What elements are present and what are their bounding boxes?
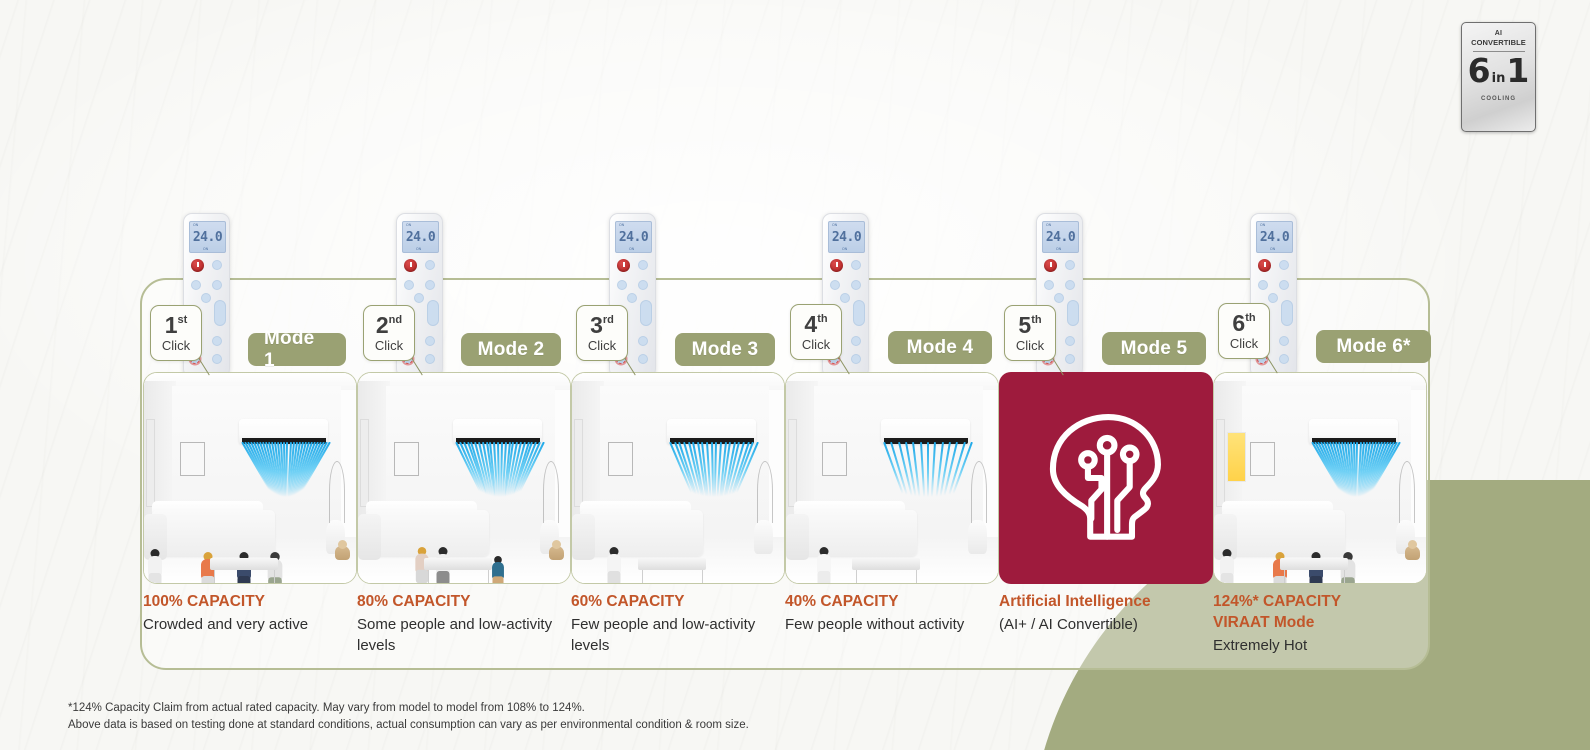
click-badge-6: 6thClick — [1218, 303, 1270, 359]
lcd-bottom-indicator: ON — [416, 247, 421, 251]
sofa — [152, 510, 275, 556]
sofa-armrest — [572, 514, 595, 560]
mode-caption-5: Artificial Intelligence(AI+ / AI Convert… — [999, 592, 1213, 672]
mode-caption-2: 80% CAPACITYSome people and low-activity… — [357, 592, 571, 672]
remote-button-3[interactable] — [425, 280, 435, 290]
capacity-title: 100% CAPACITY — [143, 592, 343, 613]
click-number-row: 6th — [1232, 312, 1255, 335]
capacity-title: 40% CAPACITY — [785, 592, 985, 613]
click-number-row: 5th — [1018, 314, 1041, 337]
click-word-label: Click — [162, 338, 190, 353]
remote-button-2[interactable] — [617, 280, 627, 290]
dog-head — [552, 540, 561, 549]
remote-button-6[interactable] — [427, 300, 439, 326]
dog — [1405, 540, 1420, 560]
sofa — [794, 510, 917, 556]
mode-card-1[interactable] — [143, 372, 357, 584]
remote-button-10[interactable] — [638, 354, 648, 364]
mode-card-4[interactable] — [785, 372, 999, 584]
air-conditioner-unit — [239, 419, 328, 444]
capacity-description: (AI+ / AI Convertible) — [999, 614, 1199, 635]
remote-lcd-display-6: ON24.0ON — [1256, 221, 1293, 253]
footnotes: *124% Capacity Claim from actual rated c… — [68, 700, 749, 733]
air-conditioner-unit — [881, 419, 970, 444]
mode-card-6[interactable] — [1213, 372, 1427, 584]
infographic-stage: AI CONVERTIBLE 6 in 1 COOLING ON24.0ON1s… — [0, 0, 1590, 750]
vase-plant — [754, 520, 773, 554]
airflow-group — [879, 442, 974, 497]
lcd-top-indicator: ON — [1260, 223, 1265, 227]
remote-button-2[interactable] — [191, 280, 201, 290]
capacity-title: 60% CAPACITY — [571, 592, 771, 613]
mode-cards-row — [143, 372, 1427, 584]
dog — [549, 540, 564, 560]
remote-power-button[interactable] — [404, 259, 417, 272]
lcd-top-indicator: ON — [1046, 223, 1051, 227]
mode-pill-5[interactable]: Mode 5 — [1102, 332, 1206, 365]
remote-power-button[interactable] — [1044, 259, 1057, 272]
mode-card-2[interactable] — [357, 372, 571, 584]
coffee-table — [210, 558, 278, 571]
coffee-table — [852, 558, 920, 571]
mode-pill-label: Mode 5 — [1121, 338, 1188, 360]
coffee-table — [424, 558, 492, 571]
wall-picture-frame — [822, 442, 847, 476]
click-number: 5 — [1018, 314, 1031, 337]
click-word-label: Click — [1016, 338, 1044, 353]
room-door — [574, 419, 582, 507]
mode-pill-label: Mode 4 — [907, 337, 974, 359]
lcd-temperature-value: 24.0 — [619, 230, 648, 245]
remote-button-4[interactable] — [1054, 293, 1064, 303]
click-number: 4 — [804, 313, 817, 336]
remote-power-button[interactable] — [1258, 259, 1271, 272]
capacity-description: Extremely Hot — [1213, 635, 1413, 656]
lcd-temperature-value: 24.0 — [406, 230, 435, 245]
warm-window — [1227, 432, 1246, 482]
remote-button-8[interactable] — [851, 336, 861, 346]
click-number-row: 3rd — [590, 314, 614, 337]
remote-button-10[interactable] — [212, 354, 222, 364]
remote-power-button[interactable] — [830, 259, 843, 272]
remote-button-4[interactable] — [1268, 293, 1278, 303]
remote-button-2[interactable] — [404, 280, 414, 290]
wall-picture-frame — [394, 442, 419, 476]
capacity-title: 80% CAPACITY — [357, 592, 557, 613]
remote-power-button[interactable] — [191, 259, 204, 272]
click-ordinal-suffix: th — [1245, 313, 1255, 324]
remote-button-3[interactable] — [212, 280, 222, 290]
mode-pill-label: Mode 1 — [264, 328, 330, 372]
remote-lcd-display-4: ON24.0ON — [828, 221, 865, 253]
click-ordinal-suffix: st — [178, 315, 188, 326]
dog-head — [338, 540, 347, 549]
click-badge-2: 2ndClick — [363, 305, 415, 361]
capacity-title: 124%* CAPACITY — [1213, 592, 1413, 613]
remote-button-8[interactable] — [1065, 336, 1075, 346]
ai-head-circuit-icon — [1038, 408, 1174, 548]
click-ordinal-suffix: th — [1031, 315, 1041, 326]
remote-lcd-display-2: ON24.0ON — [402, 221, 439, 253]
lcd-top-indicator: ON — [832, 223, 837, 227]
room-scene — [786, 373, 998, 583]
click-ordinal-suffix: rd — [603, 315, 614, 326]
capacity-title: Artificial Intelligence — [999, 592, 1199, 613]
coffee-table — [638, 558, 706, 571]
dog-head — [1408, 540, 1417, 549]
room-door — [360, 419, 368, 507]
click-ordinal-suffix: th — [817, 314, 827, 325]
lcd-bottom-indicator: ON — [1056, 247, 1061, 251]
lcd-bottom-indicator: ON — [203, 247, 208, 251]
click-badge-4: 4thClick — [790, 304, 842, 360]
remote-button-8[interactable] — [1279, 336, 1289, 346]
remote-button-8[interactable] — [212, 336, 222, 346]
remote-button-1[interactable] — [638, 260, 648, 270]
airflow-group — [451, 442, 546, 497]
vase-plant — [968, 520, 987, 554]
mode-pill-3[interactable]: Mode 3 — [675, 333, 775, 366]
person-legs — [608, 571, 621, 584]
mode-pill-label: Mode 6* — [1336, 336, 1410, 358]
footnote-line-2: Above data is based on testing done at s… — [68, 717, 749, 734]
remote-button-1[interactable] — [851, 260, 861, 270]
lcd-temperature-value: 24.0 — [832, 230, 861, 245]
click-number-row: 1st — [165, 314, 188, 337]
lcd-top-indicator: ON — [406, 223, 411, 227]
lcd-temperature-value: 24.0 — [193, 230, 222, 245]
room-door — [1216, 419, 1224, 507]
remote-button-6[interactable] — [1067, 300, 1079, 326]
remote-power-button[interactable] — [617, 259, 630, 272]
wall-picture-frame — [1250, 442, 1275, 476]
remote-button-6[interactable] — [214, 300, 226, 326]
person-legs — [201, 576, 214, 585]
remote-lcd-display-5: ON24.0ON — [1042, 221, 1079, 253]
lcd-top-indicator: ON — [619, 223, 624, 227]
sofa — [1222, 510, 1345, 556]
remote-button-8[interactable] — [425, 336, 435, 346]
click-badge-1: 1stClick — [150, 305, 202, 361]
remote-button-1[interactable] — [1065, 260, 1075, 270]
capacity-description: Few people without activity — [785, 614, 985, 635]
dog — [335, 540, 350, 560]
remote-lcd-display-3: ON24.0ON — [615, 221, 652, 253]
click-number-row: 2nd — [376, 314, 402, 337]
remote-button-6[interactable] — [640, 300, 652, 326]
remote-button-4[interactable] — [414, 293, 424, 303]
click-word-label: Click — [802, 337, 830, 352]
airflow-group — [237, 442, 332, 497]
wall-picture-frame — [608, 442, 633, 476]
remote-button-3[interactable] — [1279, 280, 1289, 290]
lcd-bottom-indicator: ON — [1270, 247, 1275, 251]
room-door — [146, 419, 154, 507]
click-word-label: Click — [375, 338, 403, 353]
remote-button-6[interactable] — [1281, 300, 1293, 326]
lcd-bottom-indicator: ON — [842, 247, 847, 251]
click-number: 1 — [165, 314, 178, 337]
air-conditioner-unit — [453, 419, 542, 444]
sofa-armrest — [786, 514, 809, 560]
lcd-top-indicator: ON — [193, 223, 198, 227]
mode-caption-1: 100% CAPACITYCrowded and very active — [143, 592, 357, 672]
remote-button-2[interactable] — [830, 280, 840, 290]
person-legs — [148, 573, 161, 584]
click-word-label: Click — [1230, 336, 1258, 351]
click-ordinal-suffix: nd — [389, 315, 402, 326]
remote-button-4[interactable] — [201, 293, 211, 303]
click-number: 2 — [376, 314, 389, 337]
remote-button-1[interactable] — [212, 260, 222, 270]
person-legs — [415, 570, 427, 583]
mode-pill-6[interactable]: Mode 6* — [1316, 330, 1431, 363]
remote-button-3[interactable] — [851, 280, 861, 290]
click-number: 6 — [1232, 312, 1245, 335]
remote-button-10[interactable] — [1065, 354, 1075, 364]
sofa — [580, 510, 703, 556]
lcd-bottom-indicator: ON — [629, 247, 634, 251]
click-number: 3 — [590, 314, 603, 337]
footnote-line-1: *124% Capacity Claim from actual rated c… — [68, 700, 749, 717]
mode-pill-label: Mode 3 — [692, 339, 759, 361]
remote-button-10[interactable] — [1279, 354, 1289, 364]
remote-button-2[interactable] — [1258, 280, 1268, 290]
room-door — [788, 419, 796, 507]
remote-lcd-display-1: ON24.0ON — [189, 221, 226, 253]
lcd-temperature-value: 24.0 — [1046, 230, 1075, 245]
airflow-line — [920, 442, 925, 497]
remote-button-1[interactable] — [1279, 260, 1289, 270]
person-legs — [818, 571, 831, 584]
wall-picture-frame — [180, 442, 205, 476]
air-conditioner-unit — [1309, 419, 1398, 444]
mode-pill-1[interactable]: Mode 1 — [248, 333, 346, 366]
click-word-label: Click — [588, 338, 616, 353]
person-legs — [1220, 573, 1233, 584]
remote-button-1[interactable] — [425, 260, 435, 270]
mode-pill-label: Mode 2 — [478, 339, 545, 361]
room-scene — [572, 373, 784, 583]
room-scene — [144, 373, 356, 583]
room-scene — [358, 373, 570, 583]
remote-button-10[interactable] — [851, 354, 861, 364]
mode-caption-4: 40% CAPACITYFew people without activity — [785, 592, 999, 672]
remote-button-4[interactable] — [840, 293, 850, 303]
sofa-armrest — [358, 514, 381, 560]
person-legs — [492, 576, 503, 584]
lcd-temperature-value: 24.0 — [1260, 230, 1289, 245]
capacity-description: Crowded and very active — [143, 614, 343, 635]
remote-button-4[interactable] — [627, 293, 637, 303]
remote-button-8[interactable] — [638, 336, 648, 346]
airflow-group — [1307, 442, 1402, 497]
mode-captions-row: 100% CAPACITYCrowded and very active80% … — [143, 592, 1433, 672]
coffee-table — [1280, 558, 1348, 571]
remote-button-10[interactable] — [425, 354, 435, 364]
capacity-description: Some people and low-activity levels — [357, 614, 557, 657]
mode-pill-4[interactable]: Mode 4 — [888, 331, 992, 364]
air-conditioner-unit — [667, 419, 756, 444]
room-scene — [1214, 373, 1426, 583]
mode-pill-2[interactable]: Mode 2 — [461, 333, 561, 366]
mode-caption-3: 60% CAPACITYFew people and low-activity … — [571, 592, 785, 672]
mode-card-5[interactable] — [999, 372, 1213, 584]
sofa — [366, 510, 489, 556]
click-badge-5: 5thClick — [1004, 305, 1056, 361]
capacity-title-line2: VIRAAT Mode — [1213, 613, 1413, 634]
remote-button-3[interactable] — [638, 280, 648, 290]
remote-button-3[interactable] — [1065, 280, 1075, 290]
capacity-description: Few people and low-activity levels — [571, 614, 771, 657]
airflow-group — [665, 442, 760, 497]
mode-caption-6: 124%* CAPACITYVIRAAT ModeExtremely Hot — [1213, 592, 1427, 672]
remote-button-2[interactable] — [1044, 280, 1054, 290]
click-badge-3: 3rdClick — [576, 305, 628, 361]
mode-card-3[interactable] — [571, 372, 785, 584]
remote-button-6[interactable] — [853, 300, 865, 326]
click-number-row: 4th — [804, 313, 827, 336]
airflow-line — [927, 442, 929, 497]
